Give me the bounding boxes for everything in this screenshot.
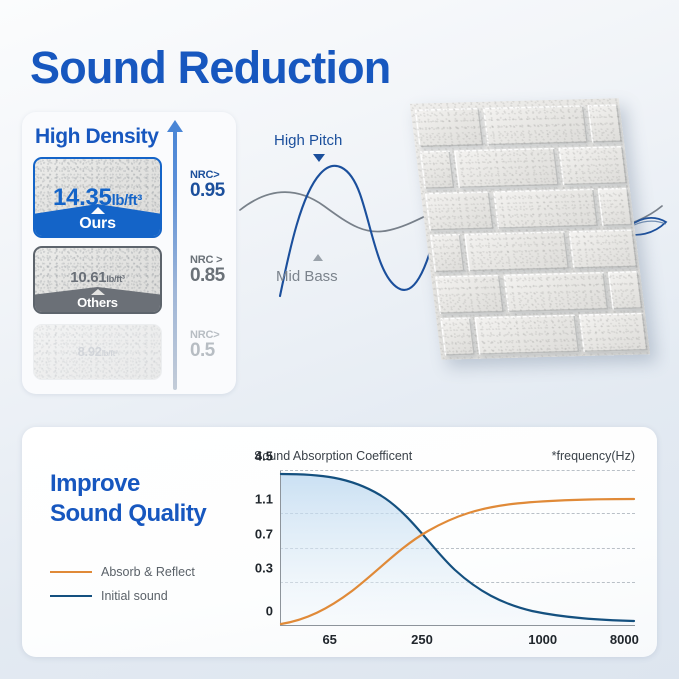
- panel-brick: [420, 150, 455, 189]
- acoustic-panel-image: [400, 72, 670, 402]
- tier-band-label: Ours: [35, 215, 160, 233]
- panel-brick: [440, 317, 475, 356]
- nrc-value: 0.5: [190, 341, 219, 360]
- band-notch-icon: [91, 207, 105, 214]
- x-tick-label: 65: [322, 632, 336, 647]
- panel-brick: [493, 189, 598, 229]
- nrc-rating-low: NRC> 0.5: [190, 330, 219, 361]
- heading-line-1: Improve: [50, 469, 206, 499]
- y-tick-label: 0.7: [255, 526, 273, 541]
- panel-brick: [503, 272, 608, 312]
- heading-line-2: Sound Quality: [50, 499, 206, 529]
- chart-xlabel: *frequency(Hz): [552, 449, 635, 463]
- legend-item-initial-sound: Initial sound: [50, 589, 195, 603]
- panel-brick: [454, 148, 559, 188]
- legend-label: Initial sound: [101, 589, 168, 603]
- chart-legend: Absorb & Reflect Initial sound: [50, 565, 195, 613]
- up-arrow-icon: [167, 120, 183, 132]
- nrc-rating-ours: NRC> 0.95: [190, 170, 225, 201]
- panel-brick: [608, 271, 643, 310]
- panel-brick: [464, 231, 569, 271]
- panel-brick: [558, 146, 627, 185]
- legend-swatch: [50, 571, 92, 574]
- sound-quality-chart-panel: Improve Sound Quality Absorb & Reflect I…: [22, 427, 657, 657]
- panel-brick: [430, 234, 465, 273]
- high-pitch-label: High Pitch: [274, 132, 342, 149]
- page-title: Sound Reduction: [30, 42, 390, 94]
- chart-title: Sound Absorption Coefficent: [254, 449, 412, 463]
- chart-plot-area: 4.5 1.1 0.7 0.3 0 65 250 1000 8000: [280, 471, 635, 626]
- x-tick-label: 250: [411, 632, 433, 647]
- density-value: 8.92lb/ft³: [34, 344, 161, 359]
- tier-band-label: Others: [35, 295, 160, 310]
- foam-texture-swatch: 14.35lb/ft³ Ours: [33, 157, 162, 238]
- y-tick-label: 4.5: [255, 449, 273, 464]
- density-unit: lb/ft³: [106, 274, 124, 284]
- y-tick-label: 0.3: [255, 560, 273, 575]
- panel-brick: [474, 314, 579, 354]
- density-unit: lb/ft³: [112, 193, 142, 209]
- panel-brick: [415, 108, 484, 147]
- foam-texture-swatch: 10.61lb/ft³ Others: [33, 246, 162, 314]
- y-tick-label: 0: [266, 604, 273, 619]
- legend-item-absorb-reflect: Absorb & Reflect: [50, 565, 195, 579]
- panel-brick: [435, 275, 504, 314]
- panel-brick: [569, 229, 638, 268]
- panel-brick: [598, 188, 633, 227]
- high-density-card: High Density 14.35lb/ft³ Ours NRC> 0.95 …: [22, 112, 236, 394]
- x-tick-label: 8000: [610, 632, 639, 647]
- triangle-up-icon: [313, 254, 323, 261]
- mid-bass-label: Mid Bass: [276, 268, 338, 285]
- foam-texture-swatch: 8.92lb/ft³: [33, 324, 162, 380]
- y-tick-label: 1.1: [255, 492, 273, 507]
- density-value: 10.61lb/ft³: [35, 269, 160, 286]
- triangle-down-icon: [313, 154, 325, 162]
- panel-brick: [579, 313, 648, 352]
- chart-curves: [280, 471, 635, 626]
- nrc-value: 0.95: [190, 181, 225, 200]
- nrc-value: 0.85: [190, 266, 225, 285]
- panel-brick: [483, 105, 588, 145]
- acoustic-brick-panel: [410, 98, 650, 360]
- density-unit: lb/ft³: [102, 349, 118, 358]
- improve-sound-quality-heading: Improve Sound Quality: [50, 469, 206, 529]
- panel-brick: [425, 191, 494, 230]
- panel-brick: [587, 104, 622, 143]
- nrc-rating-others: NRC > 0.85: [190, 255, 225, 286]
- x-tick-label: 1000: [528, 632, 557, 647]
- density-scale-arrow: [173, 128, 177, 390]
- high-density-heading: High Density: [35, 125, 159, 149]
- legend-label: Absorb & Reflect: [101, 565, 195, 579]
- legend-swatch: [50, 595, 92, 598]
